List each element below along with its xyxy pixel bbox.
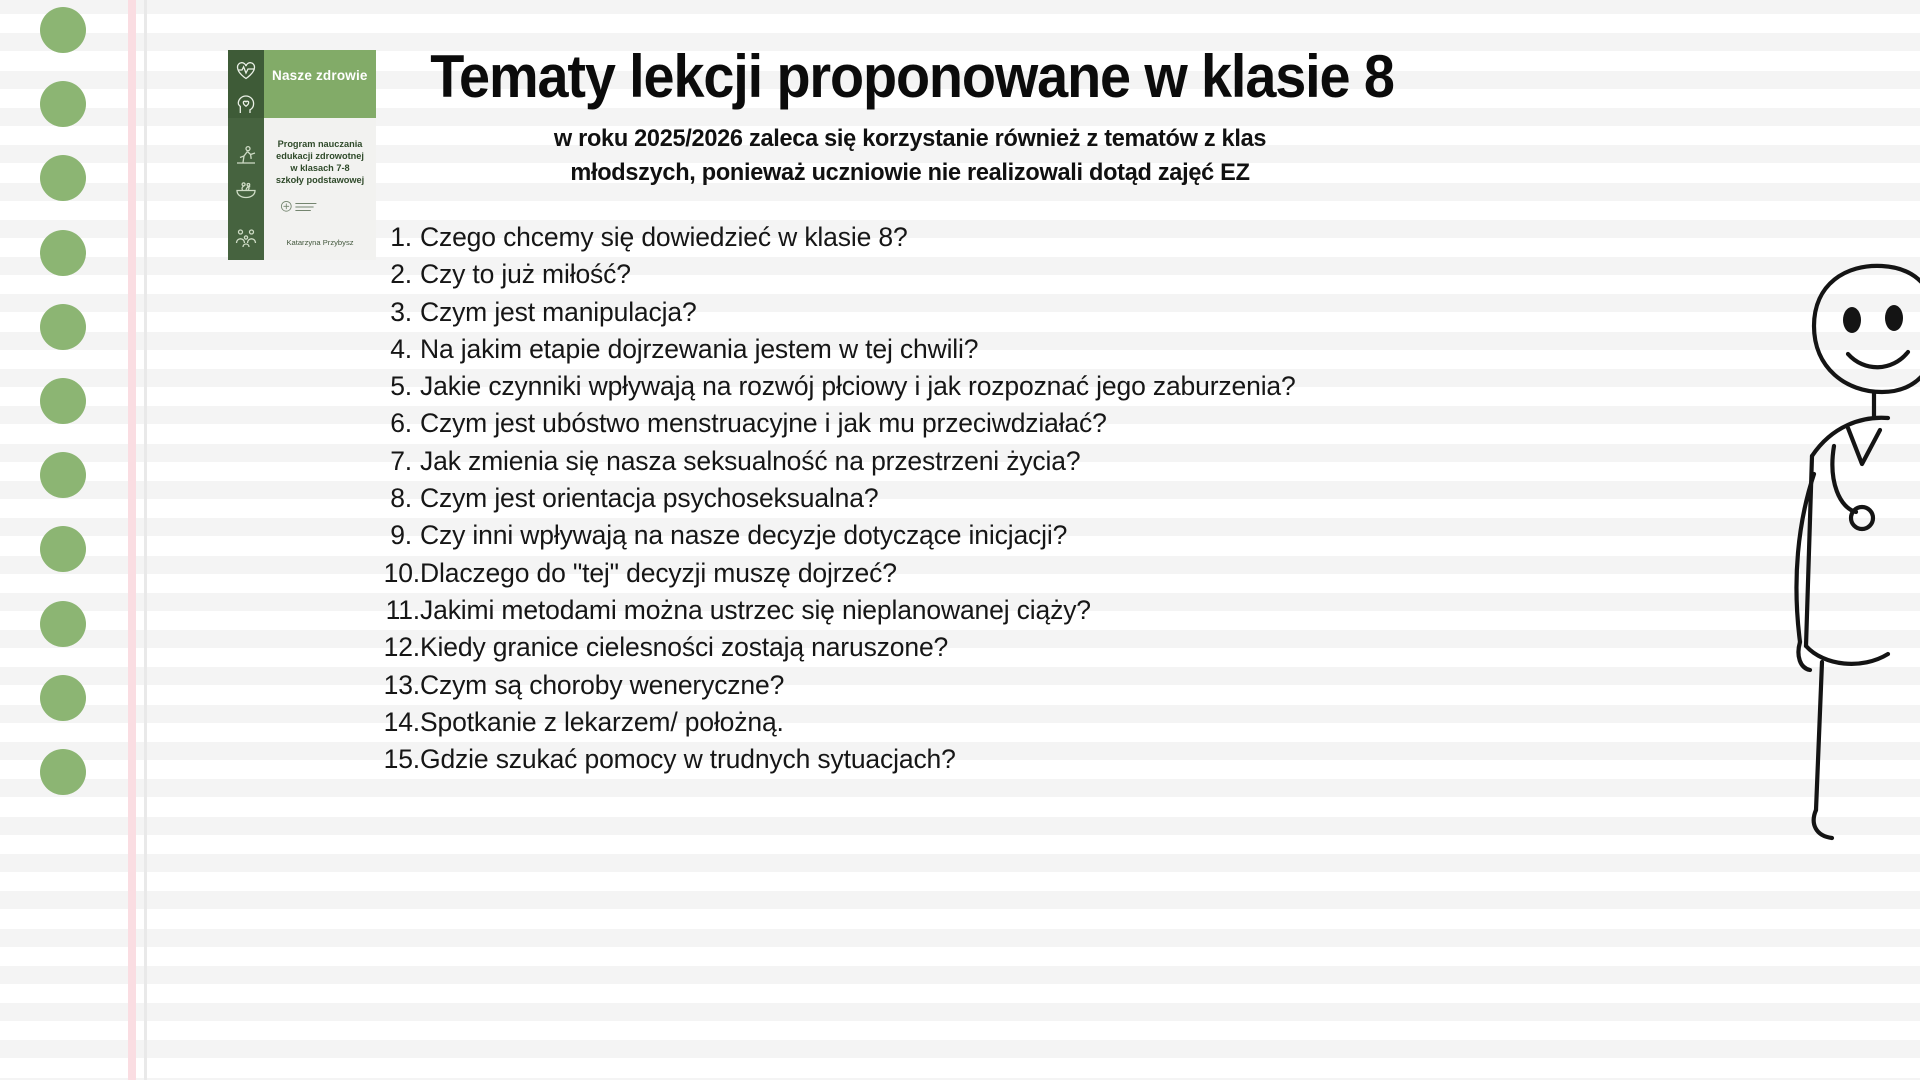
book-cover-author: Katarzyna Przybysz bbox=[266, 238, 374, 247]
list-item-number: 7. bbox=[376, 446, 420, 477]
list-item: 14.Spotkanie z lekarzem/ położną. bbox=[376, 707, 1436, 744]
list-item: 10.Dlaczego do "tej" decyzji muszę dojrz… bbox=[376, 558, 1436, 595]
margin-dot bbox=[40, 230, 86, 276]
list-item-text: Na jakim etapie dojrzewania jestem w tej… bbox=[420, 334, 978, 365]
list-item-text: Czym jest orientacja psychoseksualna? bbox=[420, 483, 878, 514]
list-item-text: Czy inni wpływają na nasze decyzje dotyc… bbox=[420, 520, 1067, 551]
page-title: Tematy lekcji proponowane w klasie 8 bbox=[391, 44, 1433, 110]
list-item: 6.Czym jest ubóstwo menstruacyjne i jak … bbox=[376, 408, 1436, 445]
list-item-number: 13. bbox=[376, 670, 420, 701]
head-heart-icon bbox=[234, 92, 258, 116]
margin-dot bbox=[40, 601, 86, 647]
stretching-person-icon bbox=[234, 144, 258, 168]
book-cover-description-line: w klasach 7-8 bbox=[266, 162, 374, 174]
list-item-text: Jak zmienia się nasza seksualność na prz… bbox=[420, 446, 1080, 477]
margin-rule-pink bbox=[128, 0, 136, 1080]
list-item-text: Czym jest manipulacja? bbox=[420, 297, 697, 328]
list-item-text: Kiedy granice cielesności zostają narusz… bbox=[420, 632, 948, 663]
paper-rule-line bbox=[0, 0, 1920, 14]
margin-dot bbox=[40, 7, 86, 53]
margin-dot bbox=[40, 378, 86, 424]
margin-dot bbox=[40, 675, 86, 721]
margin-rule-grey bbox=[144, 0, 147, 1080]
book-cover-description: Program nauczaniaedukacji zdrowotnejw kl… bbox=[266, 138, 374, 186]
margin-dot bbox=[40, 155, 86, 201]
list-item: 15.Gdzie szukać pomocy w trudnych sytuac… bbox=[376, 744, 1436, 781]
list-item: 8.Czym jest orientacja psychoseksualna? bbox=[376, 483, 1436, 520]
list-item-number: 1. bbox=[376, 222, 420, 253]
list-item-text: Gdzie szukać pomocy w trudnych sytuacjac… bbox=[420, 744, 956, 775]
list-item: 7.Jak zmienia się nasza seksualność na p… bbox=[376, 446, 1436, 483]
book-cover-title: Nasze zdrowie bbox=[272, 68, 376, 83]
book-cover-description-line: Program nauczania bbox=[266, 138, 374, 150]
book-cover-description-line: edukacji zdrowotnej bbox=[266, 150, 374, 162]
family-icon bbox=[234, 226, 258, 250]
paper-rule-line bbox=[0, 966, 1920, 984]
slide-canvas: Nasze zdrowie Program nauczaniaedukacji … bbox=[0, 0, 1920, 1080]
paper-rule-line bbox=[0, 817, 1920, 835]
list-item: 3.Czym jest manipulacja? bbox=[376, 297, 1436, 334]
list-item: 2.Czy to już miłość? bbox=[376, 259, 1436, 296]
list-item-number: 2. bbox=[376, 259, 420, 290]
list-item: 4.Na jakim etapie dojrzewania jestem w t… bbox=[376, 334, 1436, 371]
list-item: 13.Czym są choroby weneryczne? bbox=[376, 670, 1436, 707]
list-item-number: 8. bbox=[376, 483, 420, 514]
paper-rule-line bbox=[0, 854, 1920, 872]
list-item-text: Jakimi metodami można ustrzec się niepla… bbox=[420, 595, 1091, 626]
list-item-number: 12. bbox=[376, 632, 420, 663]
page-subtitle: w roku 2025/2026 zaleca się korzystanie … bbox=[449, 122, 1371, 190]
publisher-logo-icon bbox=[280, 198, 322, 216]
list-item-number: 3. bbox=[376, 297, 420, 328]
lesson-topics-list: 1.Czego chcemy się dowiedzieć w klasie 8… bbox=[376, 222, 1436, 781]
book-cover-description-line: szkoły podstawowej bbox=[266, 174, 374, 186]
list-item-number: 5. bbox=[376, 371, 420, 402]
list-item-number: 6. bbox=[376, 408, 420, 439]
list-item: 1.Czego chcemy się dowiedzieć w klasie 8… bbox=[376, 222, 1436, 259]
list-item-text: Czym są choroby weneryczne? bbox=[420, 670, 784, 701]
list-item: 9.Czy inni wpływają na nasze decyzje dot… bbox=[376, 520, 1436, 557]
paper-rule-line bbox=[0, 891, 1920, 909]
paper-rule-line bbox=[0, 779, 1920, 797]
margin-dot bbox=[40, 526, 86, 572]
list-item-number: 10. bbox=[376, 558, 420, 589]
margin-dot bbox=[40, 81, 86, 127]
paper-rule-line bbox=[0, 1040, 1920, 1058]
margin-dot bbox=[40, 452, 86, 498]
list-item-number: 4. bbox=[376, 334, 420, 365]
paper-rule-line bbox=[0, 1003, 1920, 1021]
list-item: 5.Jakie czynniki wpływają na rozwój płci… bbox=[376, 371, 1436, 408]
stick-figure-doctor-illustration bbox=[1770, 250, 1920, 870]
list-item-number: 9. bbox=[376, 520, 420, 551]
list-item-text: Dlaczego do "tej" decyzji muszę dojrzeć? bbox=[420, 558, 897, 589]
paper-rule-line bbox=[0, 929, 1920, 947]
margin-dot bbox=[40, 749, 86, 795]
book-cover-thumbnail: Nasze zdrowie Program nauczaniaedukacji … bbox=[228, 50, 376, 260]
list-item: 11.Jakimi metodami można ustrzec się nie… bbox=[376, 595, 1436, 632]
page-subtitle-line-1: w roku 2025/2026 zaleca się korzystanie … bbox=[449, 122, 1371, 156]
margin-dot-column bbox=[0, 0, 128, 1080]
list-item-text: Spotkanie z lekarzem/ położną. bbox=[420, 707, 784, 738]
list-item: 12.Kiedy granice cielesności zostają nar… bbox=[376, 632, 1436, 669]
list-item-number: 15. bbox=[376, 744, 420, 775]
list-item-number: 14. bbox=[376, 707, 420, 738]
margin-dot bbox=[40, 304, 86, 350]
book-cover-header-band bbox=[264, 50, 376, 118]
heartbeat-icon bbox=[234, 58, 258, 82]
salad-bowl-icon bbox=[234, 178, 258, 202]
list-item-text: Czym jest ubóstwo menstruacyjne i jak mu… bbox=[420, 408, 1107, 439]
list-item-text: Czego chcemy się dowiedzieć w klasie 8? bbox=[420, 222, 908, 253]
list-item-number: 11. bbox=[376, 595, 420, 626]
list-item-text: Czy to już miłość? bbox=[420, 259, 631, 290]
list-item-text: Jakie czynniki wpływają na rozwój płciow… bbox=[420, 371, 1296, 402]
page-subtitle-line-2: młodszych, ponieważ uczniowie nie realiz… bbox=[449, 156, 1371, 190]
